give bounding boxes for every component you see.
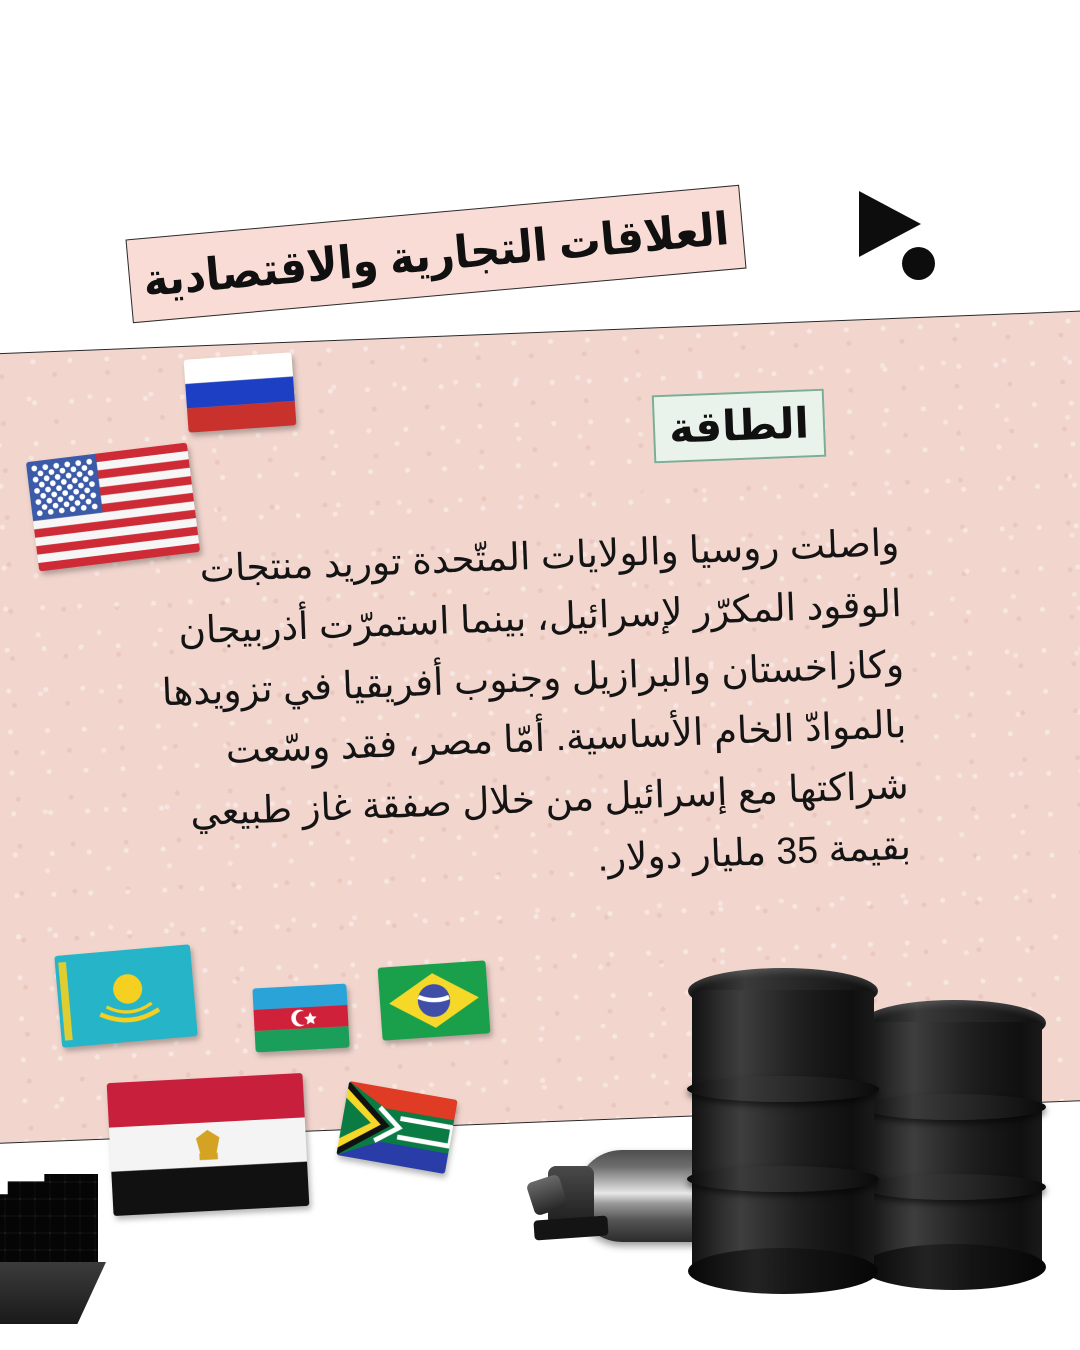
barrel-body [866, 1022, 1042, 1270]
flag-united-states [26, 443, 200, 572]
oil-barrel-back [866, 1022, 1042, 1270]
oil-barrel-front [692, 990, 874, 1274]
flag-brazil-graphic [378, 960, 491, 1040]
flag-brazil [378, 960, 491, 1040]
barrel-rib [687, 1166, 878, 1192]
section-heading-label: الطاقة [668, 402, 809, 449]
flag-united-states-graphic [26, 443, 200, 572]
barrel-rib [862, 1174, 1047, 1200]
flag-russia [184, 352, 297, 432]
flag-kazakhstan [54, 944, 198, 1048]
page-title: العلاقات التجارية والاقتصادية [141, 205, 730, 302]
brand-logo [855, 185, 965, 300]
barrel-rib [687, 1076, 878, 1102]
ship-containers [0, 1174, 98, 1266]
flag-egypt [107, 1073, 310, 1216]
barrel-bottom-rim [688, 1248, 877, 1294]
section-heading-chip: الطاقة [652, 389, 826, 464]
title-banner: العلاقات التجارية والاقتصادية [125, 185, 746, 323]
cylinder-foot [533, 1215, 608, 1240]
barrel-bottom-rim [862, 1244, 1045, 1290]
section-body-text: واصلت روسيا والولايات المتّحدة توريد منت… [151, 512, 912, 905]
barrel-body [692, 990, 874, 1274]
barrel-rib [862, 1094, 1047, 1120]
flag-egypt-graphic [107, 1073, 310, 1216]
flag-azerbaijan-graphic [252, 984, 349, 1053]
flag-kazakhstan-graphic [54, 944, 198, 1048]
ship-hull [0, 1262, 106, 1324]
flag-russia-graphic [184, 352, 297, 432]
circle-dot-icon [902, 247, 935, 280]
infographic-canvas: العلاقات التجارية والاقتصادية الطاقة واص… [0, 0, 1080, 1350]
container-ship-illustration [0, 1170, 106, 1324]
flag-azerbaijan [252, 984, 349, 1053]
